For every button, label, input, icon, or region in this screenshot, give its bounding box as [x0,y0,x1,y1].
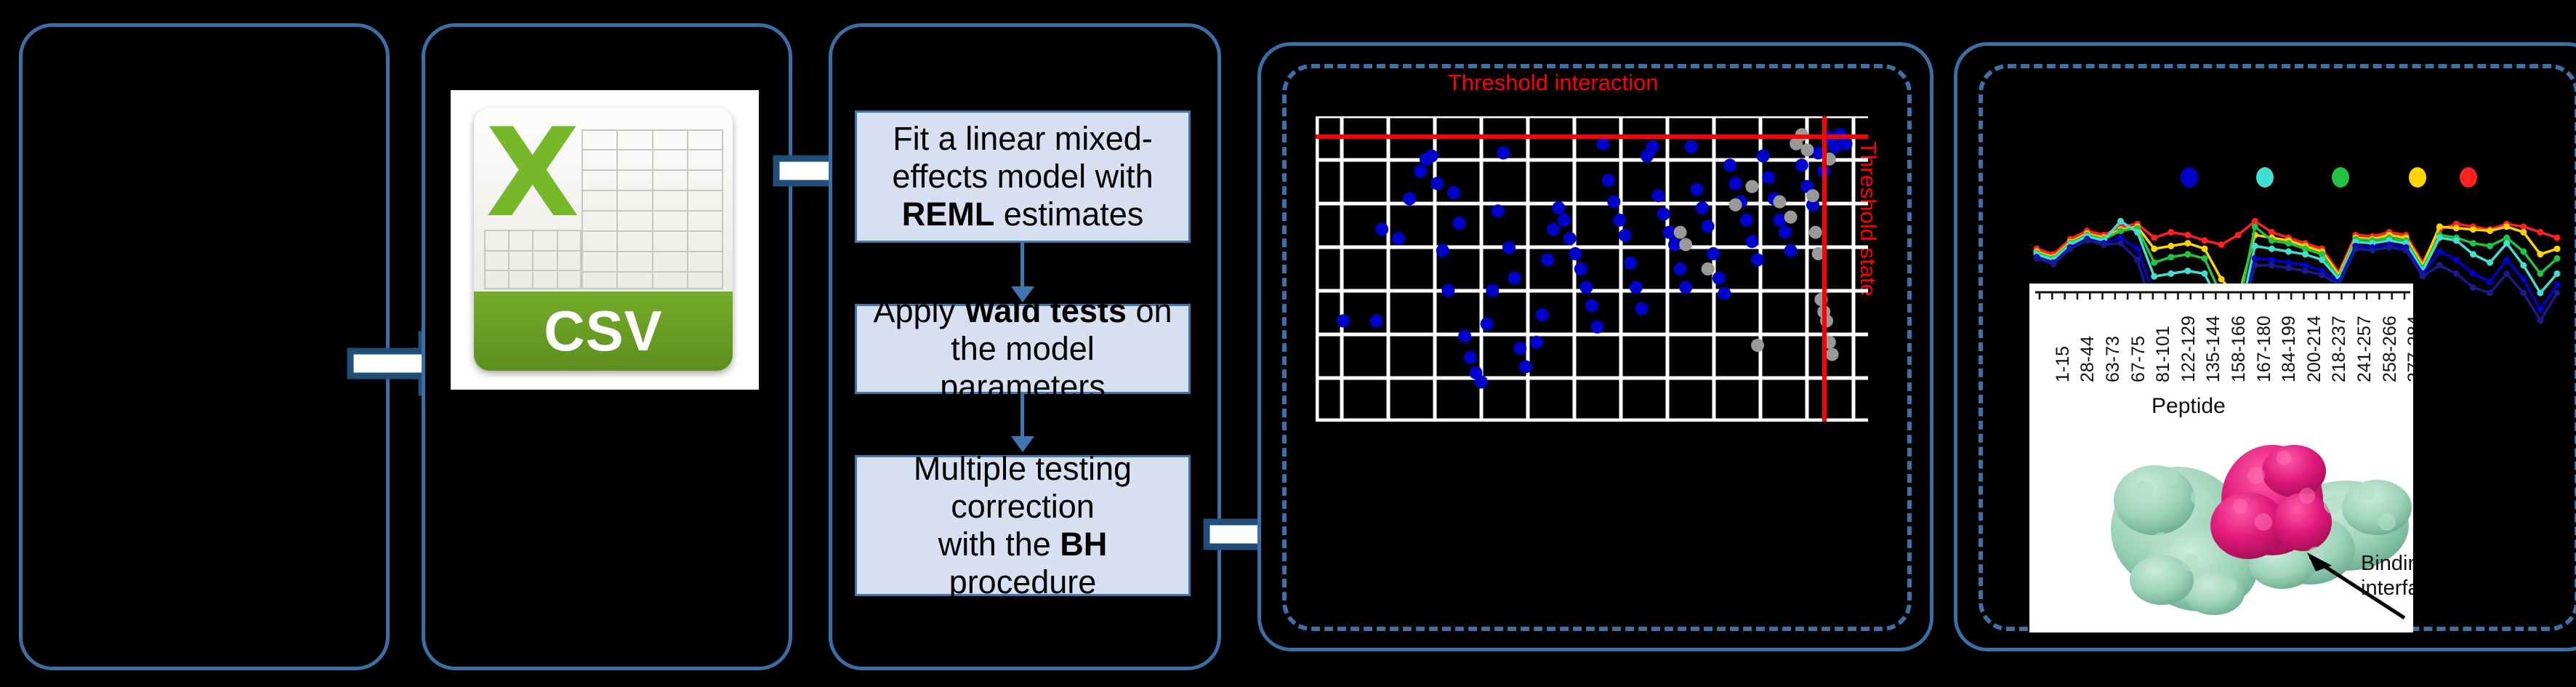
scatter-point [1729,177,1742,190]
peptide-series-marker [2168,243,2174,249]
scatter-point [1828,140,1841,153]
x-tick-label: 184-199 [2279,316,2300,382]
peptide-series-marker [2503,257,2510,263]
peptide-series-marker [2503,223,2510,230]
peptide-series-marker [2470,240,2476,246]
scatter-point [1646,140,1659,153]
x-axis [2029,289,2413,302]
scatter-point [1464,351,1477,364]
scatter-point [1414,165,1427,178]
peptide-series-marker [2537,229,2543,236]
peptide-series-marker [2101,241,2107,248]
scatter-point [1392,232,1405,245]
peptide-axis-card: 0.0 1-1528-4463-7367-7581-101122-129135-… [2029,284,2413,632]
ligand-binding-region [2210,445,2332,559]
x-tick-label: 81-101 [2153,326,2174,382]
peptide-series-marker [2487,228,2493,234]
peptide-series-marker [2117,240,2124,246]
peptide-series-marker [2537,251,2543,257]
peptide-series-marker [2202,270,2208,277]
scatter-point [1707,247,1720,260]
peptide-series-marker [2537,306,2543,313]
scatter-point [1441,284,1454,297]
csv-x-letter: X [486,112,580,234]
x-tick-label: 63-73 [2103,336,2124,382]
peptide-series-marker [2184,232,2191,238]
fit-model-box[interactable]: Fit a linear mixed-effects model withREM… [855,111,1191,243]
scatter-point [1784,211,1798,224]
connector-wald-to-bh [1021,394,1024,439]
scatter-point [1563,232,1577,245]
peptide-series-marker [2168,229,2174,236]
scatter-point [1458,329,1471,342]
peptide-series-marker [2453,270,2460,277]
peptide-series-marker [2470,284,2476,291]
peptide-series-marker [2436,223,2443,230]
peptide-series-marker [2184,268,2191,274]
x-tick-label: 135-144 [2203,316,2224,382]
peptide-series-marker [2269,246,2275,252]
scatter-gridlines [1316,116,1868,422]
peptide-series-marker [2302,268,2309,274]
scatter-point [1591,321,1604,334]
scatter-point [1751,339,1764,352]
peptide-series-marker [2218,276,2225,283]
peptide-series-marker [2319,272,2325,278]
scatter-point [1806,189,1819,202]
scatter-point [1508,272,1521,285]
peptide-series-marker [2235,232,2242,238]
scatter-point [1375,222,1388,236]
x-tick-label: 28-44 [2077,336,2098,382]
scatter-point [1519,360,1532,373]
peptide-series-marker [2117,228,2124,234]
scatter-point [1723,158,1736,172]
legend-dot-cyan [2256,167,2274,188]
peptide-series-marker [2151,273,2157,280]
scatter-point [1552,201,1565,214]
scatter-point [1558,214,1571,227]
peptide-series-marker [2252,223,2258,230]
binding-interface-label: Binding interface [2361,551,2413,600]
peptide-series-marker [2202,237,2208,244]
peptide-series-marker [2034,255,2040,262]
scatter-point [1773,196,1786,209]
scatter-point [1702,220,1715,233]
scatter-point [1826,348,1839,361]
csv-grid-right [581,129,723,289]
wald-tests-box-label: Apply Wald tests onthe model parameters [857,289,1188,409]
scatter-point [1800,143,1814,156]
scatter-point [1757,150,1770,163]
peptide-series-marker [2520,229,2527,236]
peptide-series-marker [2184,251,2191,257]
scatter-point [1619,229,1632,242]
peptide-series-marker [2252,262,2258,269]
scatter-point [1425,150,1438,163]
scatter-point [1453,217,1466,230]
x-tick-label: 200-214 [2304,316,2325,382]
peptide-series-marker [2503,240,2510,246]
connector-fit-to-wald [1021,243,1024,288]
csv-file-icon: X CSV [474,108,733,371]
scatter-point [1579,281,1593,294]
peptide-series-marker [2554,235,2561,241]
peptide-series-marker [2470,226,2476,233]
scatter-point [1430,177,1444,190]
scatter-point [1492,204,1505,217]
input-panel [19,23,390,670]
scatter-point [1740,214,1753,227]
legend-dot-blue [2181,167,2198,188]
peptide-series-marker [2520,249,2527,255]
peptide-series-marker [2554,281,2561,288]
x-tick-label: 67-75 [2128,336,2149,382]
threshold-interaction-label: Threshold interaction [1448,70,1659,96]
fit-model-box-label: Fit a linear mixed-effects model withREM… [885,117,1160,237]
scatter-point [1674,226,1687,239]
scatter-point [1635,302,1648,316]
peptide-series-marker [2470,251,2476,257]
csv-extension-label: CSV [544,298,662,364]
scatter-points [1337,128,1853,388]
x-tick-label: 277-284 [2404,316,2413,382]
x-tick-label: 167-180 [2254,316,2275,382]
x-tick-label: 1-15 [2053,346,2074,382]
legend-dot-red [2460,167,2477,188]
scatter-point [1651,189,1665,202]
peptide-series-marker [2151,246,2157,252]
scatter-point [1745,235,1758,248]
x-tick-label: 122-129 [2178,316,2199,382]
scatter-point [1729,198,1742,212]
scatter-point [1602,174,1615,187]
peptide-series-marker [2269,237,2275,244]
scatter-point [1809,226,1822,239]
peptide-series-marker [2117,218,2124,225]
peptide-series-marker [2134,246,2141,252]
scatter-point [1712,272,1726,285]
peptide-series-marker [2453,237,2460,244]
scatter-point [1486,284,1499,297]
peptide-series-marker [2285,249,2292,255]
scatter-point [1530,336,1543,349]
scatter-point [1607,196,1620,209]
peptide-series-marker [2470,270,2476,277]
legend-dot-yellow [2409,167,2426,188]
peptide-series-marker [2487,243,2493,249]
peptide-series-marker [2520,262,2527,269]
peptide-series-marker [2537,318,2543,324]
peptide-series-marker [2168,254,2174,260]
peptide-series-marker [2218,241,2225,248]
peptide-series-marker [2554,255,2561,262]
peptide-series-marker [2202,255,2208,262]
x-tick-label: 258-266 [2380,316,2401,382]
scatter-point [1596,137,1609,150]
peptide-series-marker [2436,235,2443,241]
peptide-series-marker [2319,257,2325,263]
scatter-point [1679,238,1692,251]
scatter-point [1536,308,1549,321]
peptide-series-marker [2554,246,2561,252]
peptide-series-marker [2487,260,2493,266]
scatter-point [1779,226,1792,239]
scatter-point [1447,186,1460,199]
scatter-point [1690,183,1703,196]
peptide-series-marker [2050,261,2057,268]
scatter-point [1657,207,1670,220]
scatter-point [1685,140,1698,153]
scatter-point [1840,137,1853,150]
peptide-series-marker [2369,247,2375,254]
scatter-point [1773,214,1786,227]
scatter-point [1574,262,1587,276]
scatter-point [1513,342,1526,355]
peptide-series-marker [2554,270,2561,277]
peptide-series-marker [2067,246,2074,252]
scatter-point [1481,318,1494,331]
peptide-series-marker [2285,240,2292,246]
peptide-series-marker [2487,278,2493,285]
volcano-threshold-scatter [1316,116,1868,422]
scatter-point [1718,287,1731,300]
peptide-series-marker [2151,235,2157,241]
scatter-point [1613,214,1626,227]
peptide-series-marker [2202,246,2208,252]
peptide-series-marker [2151,260,2157,266]
scatter-point [1370,314,1383,327]
scatter-point [1702,262,1715,276]
peptide-series-marker [2537,290,2543,297]
peptide-series-marker [2537,270,2543,277]
scatter-point [1630,281,1643,294]
scatter-point [1436,244,1449,257]
peptide-series-marker [2520,290,2527,297]
x-tick-label: 241-257 [2354,316,2375,382]
peptide-series-marker [2168,270,2174,277]
csv-extension-band: CSV [474,292,733,371]
bh-correction-box-label: Multiple testingcorrectionwith the BH pr… [857,447,1188,605]
scatter-point [1403,192,1416,205]
scatter-point [1745,180,1758,193]
peptide-series-marker [2554,290,2561,297]
peptide-series-marker [2453,225,2460,231]
peptide-series-marker [2436,262,2443,269]
scatter-point [1679,281,1692,294]
peptide-series-marker [2420,273,2426,280]
scatter-point [1541,253,1554,266]
scatter-point [1795,158,1808,172]
peptide-series-marker [2503,270,2510,277]
peptide-series-marker [2453,257,2460,263]
scatter-point [1475,375,1488,388]
scatter-point [1585,299,1598,312]
scatter-point [1674,262,1687,276]
scatter-point [1337,314,1350,327]
scatter-point [1569,247,1582,260]
x-tick-label: 158-166 [2229,316,2250,382]
scatter-point [1497,146,1510,159]
peptide-series-marker [2352,246,2359,252]
peptide-series-marker [2269,262,2275,269]
scatter-point [1784,244,1798,257]
scatter-point [1624,257,1637,270]
peptide-series-marker [2403,247,2410,254]
scatter-point [1762,171,1775,184]
peptide-series-marker [2436,249,2443,255]
peptide-series-marker [2184,240,2191,246]
peptide-series-marker [2134,257,2141,263]
peptide-series-marker [2084,237,2090,244]
peptide-series-marker [2520,276,2527,283]
peptide-series-marker [2386,244,2393,251]
peptide-series-marker [2285,265,2292,271]
scatter-point [1696,201,1709,214]
x-tick-label: 218-237 [2329,316,2350,382]
legend-dot-green [2332,167,2349,188]
peptide-series-marker [2252,255,2258,262]
diagram-canvas: X CSV Fit a linear mixed-effects model w… [0,0,2576,687]
bh-correction-box[interactable]: Multiple testingcorrectionwith the BH pr… [855,455,1191,596]
scatter-point [1751,253,1764,266]
peptide-series-marker [2487,290,2493,297]
scatter-point [1502,241,1516,254]
wald-tests-box[interactable]: Apply Wald tests onthe model parameters [855,304,1191,394]
peptide-series-marker [2302,251,2309,257]
x-axis-title: Peptide [2152,394,2226,419]
scatter-point [1547,222,1560,236]
peptide-series-marker [2134,229,2141,236]
peptide-series-marker [2252,243,2258,249]
